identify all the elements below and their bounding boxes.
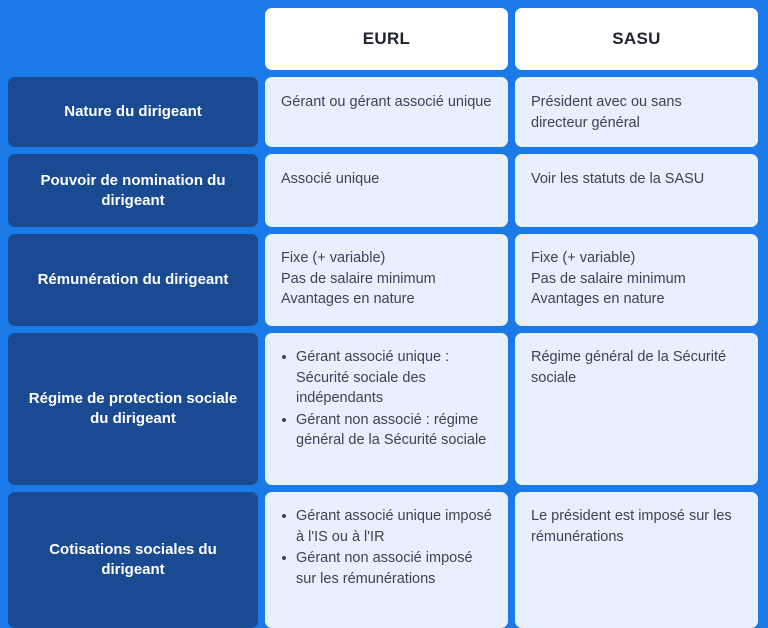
list-item: Gérant associé unique imposé à l'IS ou à…	[281, 506, 492, 547]
cell-sasu: Régime général de la Sécurité sociale	[515, 333, 758, 485]
cell-bullet-list: Gérant associé unique : Sécurité sociale…	[281, 347, 492, 451]
list-item: Gérant non associé imposé sur les rémuné…	[281, 548, 492, 589]
cell-text: Fixe (+ variable) Pas de salaire minimum…	[281, 248, 492, 310]
cell-eurl: Gérant associé unique imposé à l'IS ou à…	[265, 492, 508, 628]
table-row: Nature du dirigeant Gérant ou gérant ass…	[8, 77, 760, 147]
cell-text: Voir les statuts de la SASU	[531, 169, 742, 190]
row-label: Nature du dirigeant	[8, 77, 258, 147]
column-header-sasu: SASU	[515, 8, 758, 70]
column-header-eurl: EURL	[265, 8, 508, 70]
row-label: Pouvoir de nomination du dirigeant	[8, 154, 258, 227]
cell-eurl: Gérant ou gérant associé unique	[265, 77, 508, 147]
cell-text: Le président est imposé sur les rémunéra…	[531, 506, 742, 547]
cell-text: Fixe (+ variable) Pas de salaire minimum…	[531, 248, 742, 310]
table-row: Cotisations sociales du dirigeant Gérant…	[8, 492, 760, 628]
cell-text: Président avec ou sans directeur général	[531, 92, 742, 133]
cell-text: Gérant ou gérant associé unique	[281, 92, 492, 113]
row-label: Cotisations sociales du dirigeant	[8, 492, 258, 628]
header-spacer-cell	[8, 8, 258, 70]
cell-sasu: Président avec ou sans directeur général	[515, 77, 758, 147]
cell-text: Associé unique	[281, 169, 492, 190]
cell-eurl: Associé unique	[265, 154, 508, 227]
table-header-row: EURL SASU	[8, 8, 760, 70]
cell-eurl: Gérant associé unique : Sécurité sociale…	[265, 333, 508, 485]
list-item: Gérant associé unique : Sécurité sociale…	[281, 347, 492, 409]
cell-text: Régime général de la Sécurité sociale	[531, 347, 742, 388]
table-row: Régime de protection sociale du dirigean…	[8, 333, 760, 485]
cell-bullet-list: Gérant associé unique imposé à l'IS ou à…	[281, 506, 492, 589]
cell-sasu: Voir les statuts de la SASU	[515, 154, 758, 227]
cell-sasu: Fixe (+ variable) Pas de salaire minimum…	[515, 234, 758, 326]
cell-sasu: Le président est imposé sur les rémunéra…	[515, 492, 758, 628]
table-row: Pouvoir de nomination du dirigeant Assoc…	[8, 154, 760, 227]
table-row: Rémunération du dirigeant Fixe (+ variab…	[8, 234, 760, 326]
row-label: Rémunération du dirigeant	[8, 234, 258, 326]
list-item: Gérant non associé : régime général de l…	[281, 410, 492, 451]
comparison-table: EURL SASU Nature du dirigeant Gérant ou …	[0, 0, 768, 628]
cell-eurl: Fixe (+ variable) Pas de salaire minimum…	[265, 234, 508, 326]
row-label: Régime de protection sociale du dirigean…	[8, 333, 258, 485]
